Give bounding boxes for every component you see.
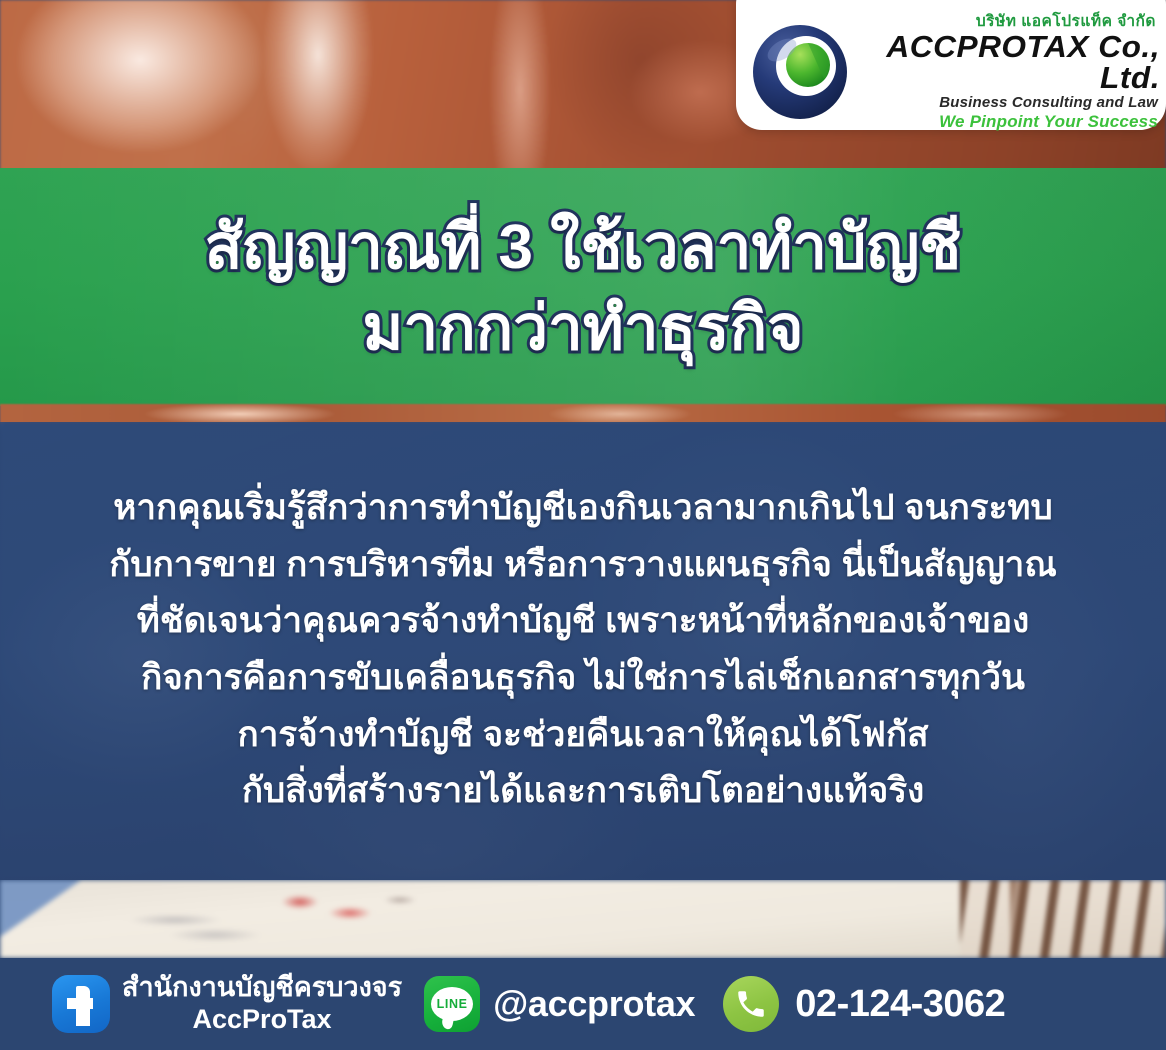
facebook-icon[interactable] xyxy=(52,975,110,1033)
body-line-6: กับสิ่งที่สร้างรายได้และการเติบโตอย่างแท… xyxy=(242,763,924,820)
contact-footer-bar: สำนักงานบัญชีครบวงจร AccProTax LINE @acc… xyxy=(0,958,1166,1050)
body-line-1: หากคุณเริ่มรู้สึกว่าการทำบัญชีเองกินเวลา… xyxy=(113,480,1052,537)
bottom-photo-texture xyxy=(0,880,1166,958)
phone-number-label: 02-124-3062 xyxy=(795,983,1005,1026)
headline-line-1: สัญญาณที่ 3 ใช้เวลาทำบัญชี xyxy=(205,208,962,289)
logo-tagline: Business Consulting and Law xyxy=(856,95,1158,112)
line-speech-bubble: LINE xyxy=(431,987,473,1021)
headline-line-2: มากกว่าทำธุรกิจ xyxy=(362,289,803,370)
bottom-background-photo xyxy=(0,880,1166,958)
body-panel: หากคุณเริ่มรู้สึกว่าการทำบัญชีเองกินเวลา… xyxy=(0,422,1166,880)
promo-poster: บริษัท แอคโปรแท็ค จำกัด ACCPROTAX Co., L… xyxy=(0,0,1166,1050)
logo-text-block: บริษัท แอคโปรแท็ค จำกัด ACCPROTAX Co., L… xyxy=(856,14,1162,132)
body-line-5: การจ้างทำบัญชี จะช่วยคืนเวลาให้คุณได้โฟก… xyxy=(238,707,929,764)
logo-slogan: We Pinpoint Your Success xyxy=(856,113,1158,132)
facebook-label-line-1: สำนักงานบัญชีครบวงจร xyxy=(122,972,402,1004)
facebook-label-line-2: AccProTax xyxy=(122,1004,402,1036)
phone-icon[interactable] xyxy=(723,976,779,1032)
logo-company-name: ACCPROTAX Co., Ltd. xyxy=(850,31,1160,94)
headline-band: สัญญาณที่ 3 ใช้เวลาทำบัญชี มากกว่าทำธุรก… xyxy=(0,168,1166,406)
body-line-4: กิจการคือการขับเคลื่อนธุรกิจ ไม่ใช่การไล… xyxy=(141,650,1025,707)
phone-contact[interactable]: 02-124-3062 xyxy=(695,976,1005,1032)
facebook-label: สำนักงานบัญชีครบวงจร AccProTax xyxy=(122,972,402,1036)
company-logo-card: บริษัท แอคโปรแท็ค จำกัด ACCPROTAX Co., L… xyxy=(736,0,1166,130)
line-badge-text: LINE xyxy=(437,997,468,1011)
facebook-contact[interactable]: สำนักงานบัญชีครบวงจร AccProTax xyxy=(52,972,402,1036)
line-icon[interactable]: LINE xyxy=(424,976,480,1032)
body-line-3: ที่ชัดเจนว่าคุณควรจ้างทำบัญชี เพราะหน้าท… xyxy=(137,593,1029,650)
body-line-2: กับการขาย การบริหารทีม หรือการวางแผนธุรก… xyxy=(109,537,1057,594)
logo-company-thai: บริษัท แอคโปรแท็ค จำกัด xyxy=(856,14,1156,30)
line-id-label: @accprotax xyxy=(493,983,695,1025)
phone-handset-glyph xyxy=(734,987,768,1021)
accprotax-sphere-logo-icon xyxy=(748,22,852,122)
body-text-block: หากคุณเริ่มรู้สึกว่าการทำบัญชีเองกินเวลา… xyxy=(0,422,1166,880)
line-contact[interactable]: LINE @accprotax xyxy=(402,976,695,1032)
photo-seam-strip xyxy=(0,404,1166,424)
